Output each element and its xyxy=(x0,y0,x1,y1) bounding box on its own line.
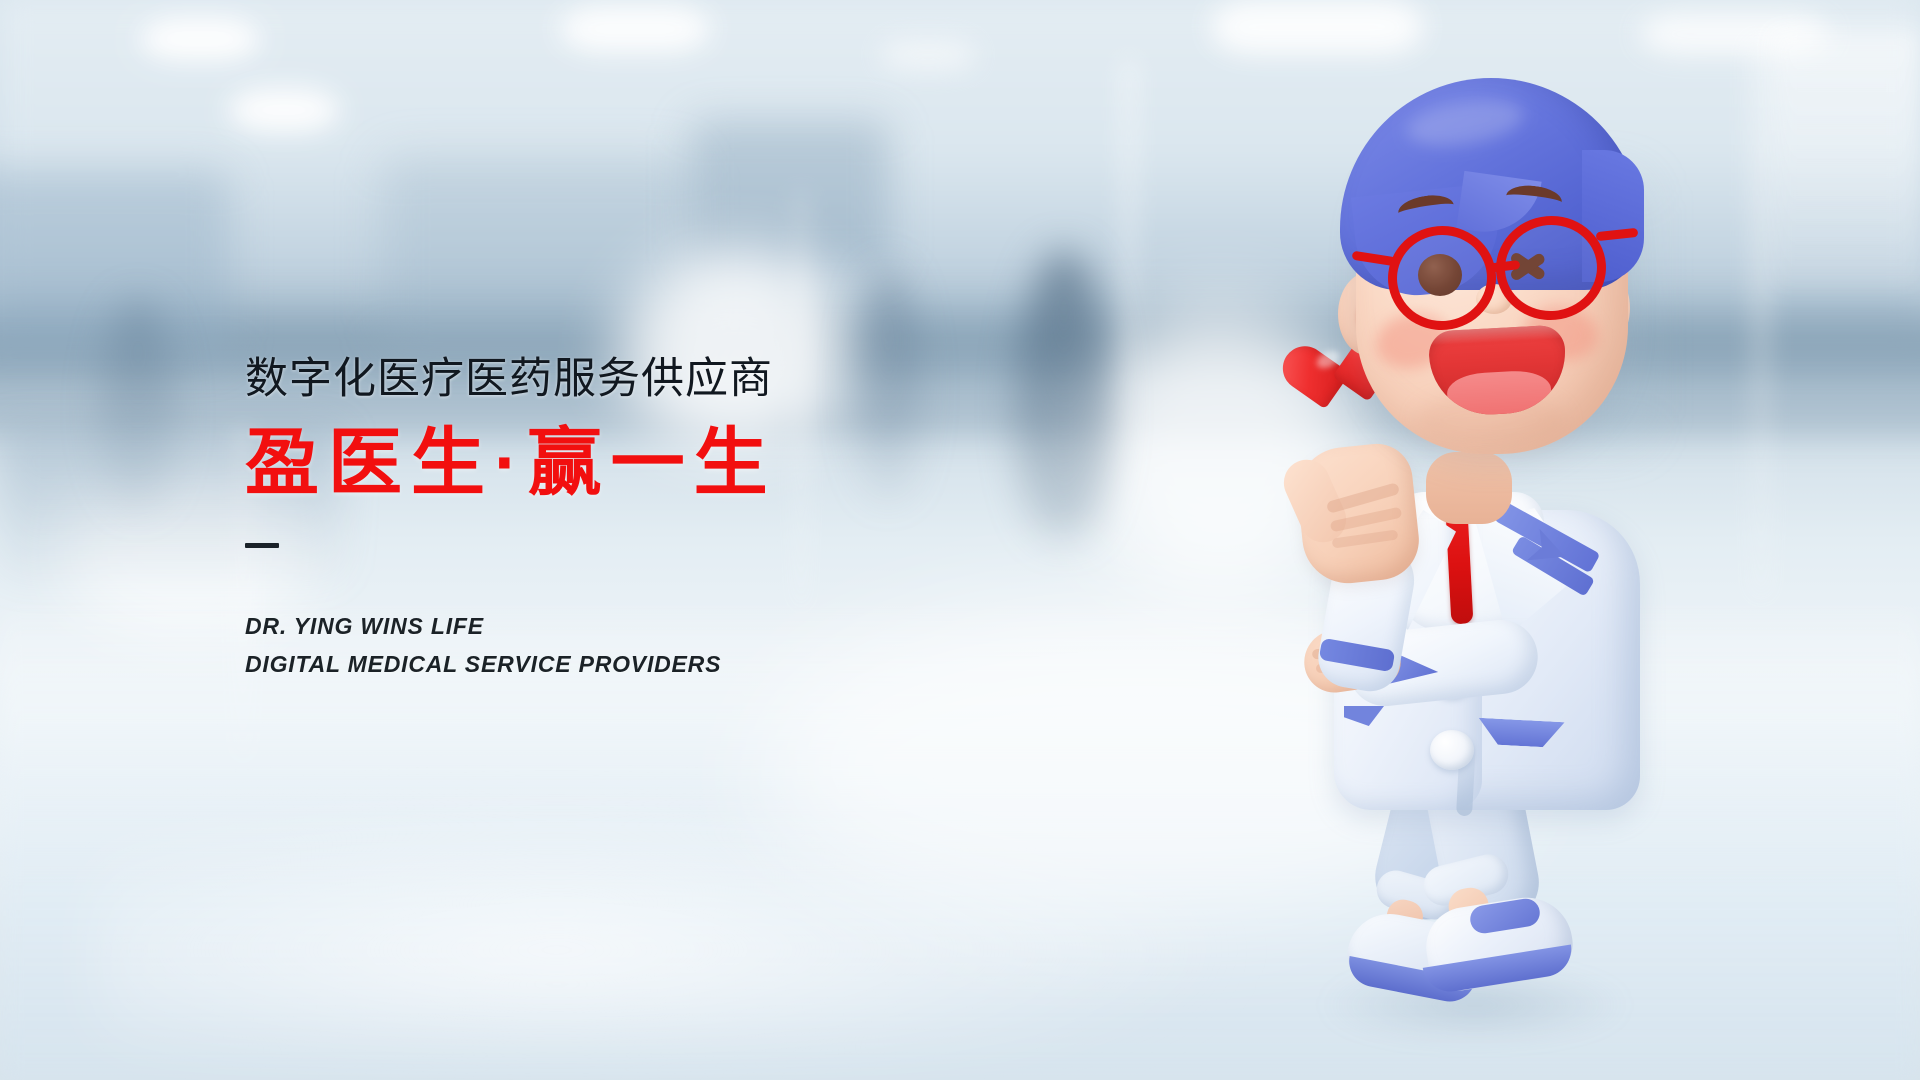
divider xyxy=(245,543,279,548)
mascot-neck xyxy=(1426,452,1512,524)
background-panel-3 xyxy=(690,120,890,270)
ceiling-light-6 xyxy=(880,40,976,70)
ceiling-light-1 xyxy=(140,18,260,60)
mascot-tongue xyxy=(1446,369,1553,417)
mascot-coat-button-bottom xyxy=(1430,730,1474,770)
subtitle-line-1: DR. YING WINS LIFE xyxy=(245,608,1005,645)
slogan: 盈医生·赢一生 xyxy=(245,423,1005,503)
doctor-mascot xyxy=(1180,40,1740,1050)
banner-stage: 数字化医疗医药服务供应商 盈医生·赢一生 DR. YING WINS LIFE … xyxy=(0,0,1920,1080)
banner-text-block: 数字化医疗医药服务供应商 盈医生·赢一生 DR. YING WINS LIFE … xyxy=(245,355,1005,683)
ceiling-light-3 xyxy=(560,6,710,52)
ceiling-light-2 xyxy=(228,88,340,132)
background-glass-column-4 xyxy=(1748,40,1774,600)
background-window-bright xyxy=(1772,30,1920,290)
subtitle-line-2: DIGITAL MEDICAL SERVICE PROVIDERS xyxy=(245,646,1005,683)
page-title: 数字化医疗医药服务供应商 xyxy=(245,355,1005,403)
mascot-mouth xyxy=(1428,325,1568,418)
subtitle-english: DR. YING WINS LIFE DIGITAL MEDICAL SERVI… xyxy=(245,608,1005,683)
